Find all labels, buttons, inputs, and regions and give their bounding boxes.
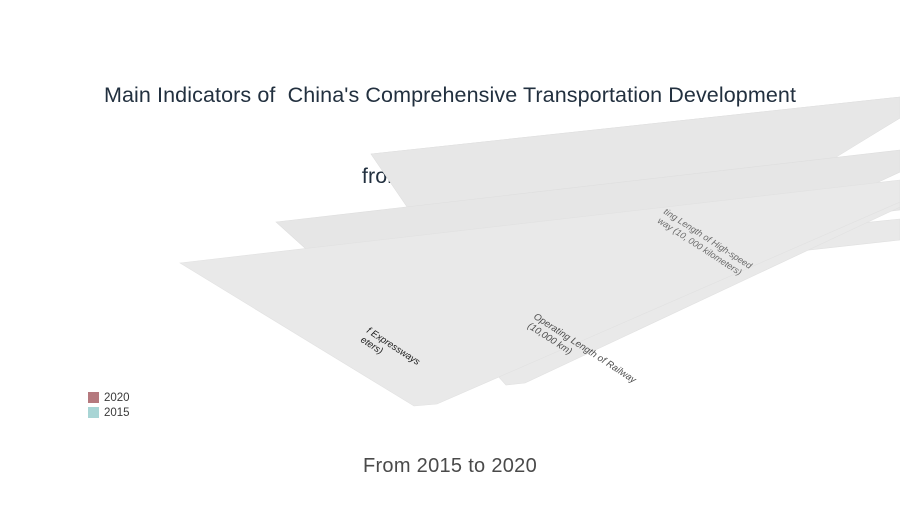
chart-legend[interactable]: 2020 2015	[88, 391, 130, 419]
legend-item-2015[interactable]: 2015	[88, 406, 130, 419]
legend-swatch-2015	[88, 407, 99, 418]
slide-canvas: Main Indicators of China's Comprehensive…	[0, 0, 900, 506]
page-title-line-2: from 2015 to 2020	[60, 163, 840, 190]
category-label-railway-line-1: Operating Length of Railway(10,000 km)	[525, 311, 639, 395]
category-label-expressways: f Expresswayseters)	[358, 325, 422, 377]
category-label-railway: Operating Length of Railway(10,000 km)	[525, 311, 639, 395]
page-title-line-1: Main Indicators of China's Comprehensive…	[60, 82, 840, 109]
legend-item-2020[interactable]: 2020	[88, 391, 130, 404]
legend-swatch-2020	[88, 392, 99, 403]
legend-label-2015: 2015	[104, 407, 130, 419]
axis-title: From 2015 to 2020	[0, 455, 900, 478]
page-title: Main Indicators of China's Comprehensive…	[60, 28, 840, 244]
category-label-expressways-line-1: f Expresswayseters)	[358, 325, 422, 377]
legend-label-2020: 2020	[104, 392, 130, 404]
